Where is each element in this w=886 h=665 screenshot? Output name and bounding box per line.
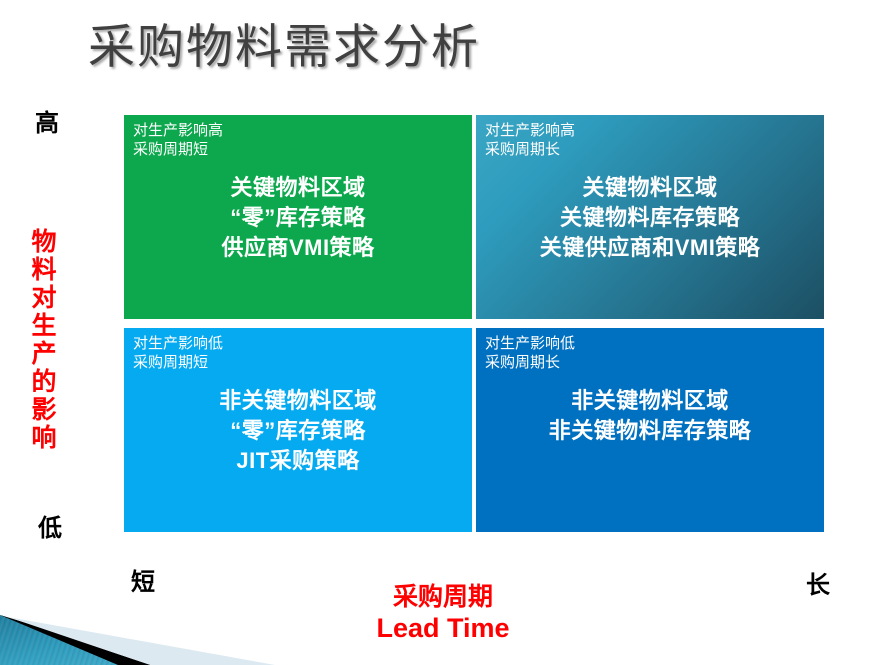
quadrant-top-left[interactable]: 对生产影响高 采购周期短 关键物料区域 “零”库存策略 供应商VMI策略 — [124, 115, 472, 319]
quadrant-top-right[interactable]: 对生产影响高 采购周期长 关键物料区域 关键物料库存策略 关键供应商和VMI策略 — [476, 115, 824, 319]
quadrant-bottom-right[interactable]: 对生产影响低 采购周期长 非关键物料区域 非关键物料库存策略 — [476, 328, 824, 532]
quadrant-corner-label: 对生产影响低 采购周期短 — [133, 334, 223, 372]
quadrant-corner-label: 对生产影响低 采购周期长 — [485, 334, 575, 372]
quadrant-body-text: 关键物料区域 关键物料库存策略 关键供应商和VMI策略 — [476, 173, 824, 263]
y-axis-title: 物料对生产的影响 — [29, 228, 59, 452]
page-title: 采购物料需求分析 — [88, 8, 480, 77]
x-axis-title-cn: 采购周期 — [0, 583, 886, 612]
quadrant-body-text: 非关键物料区域 “零”库存策略 JIT采购策略 — [124, 386, 472, 476]
quadrant-body-text: 非关键物料区域 非关键物料库存策略 — [476, 386, 824, 446]
quadrant-corner-label: 对生产影响高 采购周期长 — [485, 121, 575, 159]
quadrant-bottom-left[interactable]: 对生产影响低 采购周期短 非关键物料区域 “零”库存策略 JIT采购策略 — [124, 328, 472, 532]
quadrant-body-text: 关键物料区域 “零”库存策略 供应商VMI策略 — [124, 173, 472, 263]
y-axis-low-label: 低 — [38, 508, 62, 543]
quadrant-corner-label: 对生产影响高 采购周期短 — [133, 121, 223, 159]
y-axis-high-label: 高 — [35, 103, 59, 138]
quadrant-matrix: 对生产影响高 采购周期短 关键物料区域 “零”库存策略 供应商VMI策略 对生产… — [124, 115, 824, 532]
corner-ribbon-decoration — [0, 615, 275, 665]
